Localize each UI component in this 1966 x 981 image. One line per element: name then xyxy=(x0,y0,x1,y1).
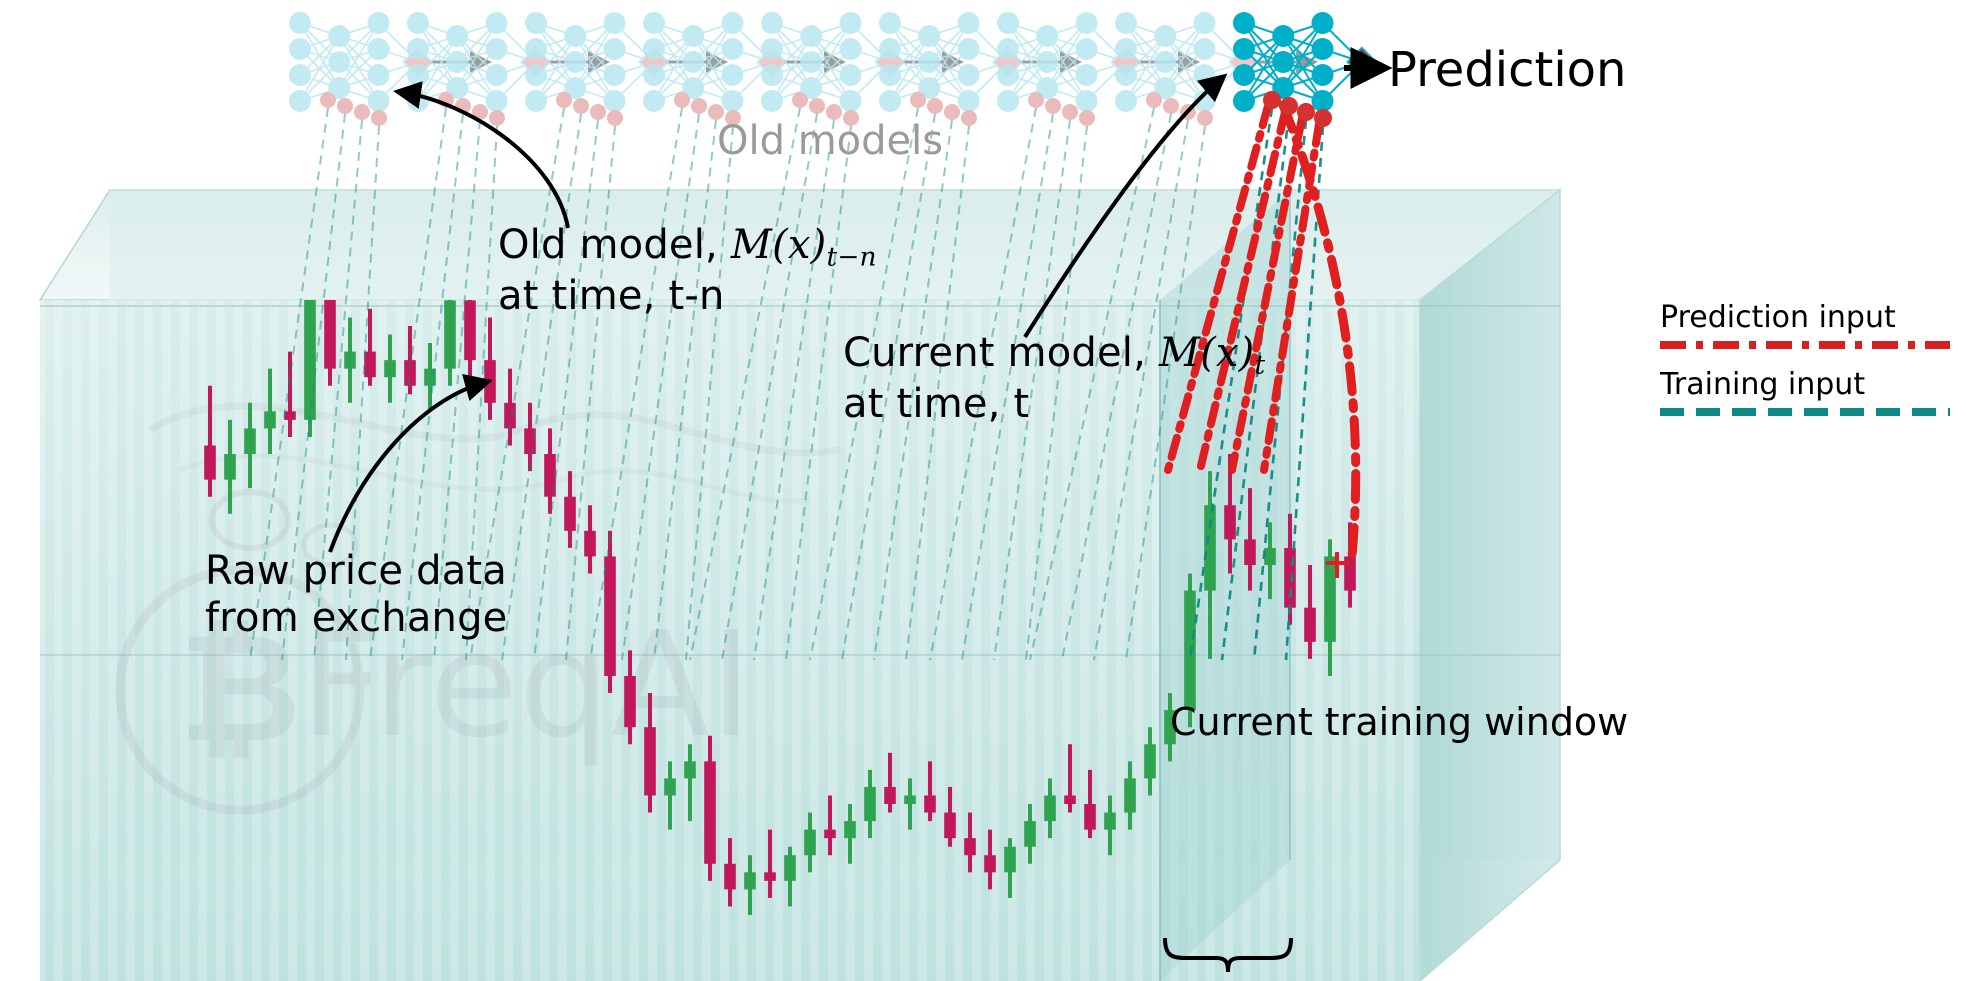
raw-price-annotation-line1: Raw price data xyxy=(205,548,507,595)
prediction-label: Prediction xyxy=(1388,42,1626,98)
legend: Prediction input Training input xyxy=(1660,300,1960,426)
current-model-arrow xyxy=(1025,78,1222,337)
old-model-prefix: Old model, xyxy=(498,222,731,268)
legend-label-training-input: Training input xyxy=(1660,367,1960,402)
diagram-canvas: ₿ FreqAI xyxy=(0,0,1966,981)
old-model-math-m: M xyxy=(731,222,772,268)
training-window-brace xyxy=(1165,938,1291,972)
legend-swatch-prediction-input xyxy=(1660,335,1960,355)
raw-price-annotation-line2: from exchange xyxy=(205,595,507,642)
old-model-annotation: Old model, M(x)t−n at time, t-n xyxy=(498,222,877,320)
current-model-annotation: Current model, M(x)t at time, t xyxy=(843,330,1265,428)
current-model-math-sub: t xyxy=(1254,349,1265,380)
raw-price-arrow xyxy=(330,382,486,552)
old-model-annotation-line2: at time, t-n xyxy=(498,273,877,320)
old-model-arrow xyxy=(400,92,568,228)
old-model-annotation-line1: Old model, M(x)t−n xyxy=(498,222,877,273)
old-model-math-args: (x) xyxy=(772,222,826,268)
current-training-window-label: Current training window xyxy=(1170,700,1628,744)
annotation-arrows-layer xyxy=(0,0,1966,981)
current-model-math-args: (x) xyxy=(1200,330,1254,376)
legend-label-prediction-input: Prediction input xyxy=(1660,300,1960,335)
current-model-prefix: Current model, xyxy=(843,330,1159,376)
raw-price-annotation: Raw price data from exchange xyxy=(205,548,507,642)
current-model-annotation-line1: Current model, M(x)t xyxy=(843,330,1265,381)
current-model-math-m: M xyxy=(1159,330,1200,376)
current-model-annotation-line2: at time, t xyxy=(843,381,1265,428)
legend-swatch-training-input xyxy=(1660,402,1960,422)
old-model-math-sub: t−n xyxy=(826,241,876,272)
old-models-label: Old models xyxy=(717,118,943,164)
